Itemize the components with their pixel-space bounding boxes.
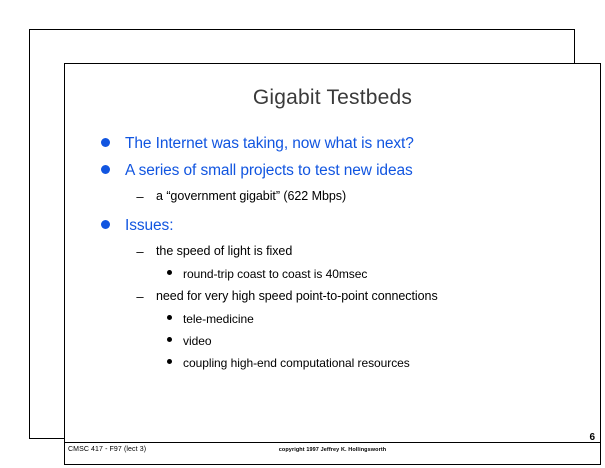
list-item-label: coupling high-end computational resource… — [183, 353, 600, 373]
list-item[interactable]: The Internet was taking, now what is nex… — [65, 132, 600, 157]
small-round-bullet-icon — [167, 270, 172, 275]
list-item[interactable]: coupling high-end computational resource… — [65, 353, 600, 374]
dash-bullet-icon: – — [133, 241, 147, 262]
round-bullet-icon — [101, 220, 110, 229]
footer-page-number: 6 — [589, 432, 595, 443]
list-item[interactable]: tele-medicine — [65, 309, 600, 330]
slide-page: Gigabit Testbeds The Internet was taking… — [0, 0, 605, 468]
slide-footer: CMSC 417 - F97 (lect 3) copyright 1997 J… — [65, 444, 600, 462]
list-item-label: a “government gigabit” (622 Mbps) — [156, 186, 600, 207]
list-item[interactable]: round-trip coast to coast is 40msec — [65, 264, 600, 285]
list-item[interactable]: – the speed of light is fixed — [65, 241, 600, 263]
list-item[interactable]: – a “government gigabit” (622 Mbps) — [65, 186, 600, 208]
list-item[interactable]: A series of small projects to test new i… — [65, 159, 600, 184]
footer-copyright-label: copyright 1997 Jeffrey K. Hollingsworth — [65, 447, 600, 453]
small-round-bullet-icon — [167, 359, 172, 364]
round-bullet-icon — [101, 165, 110, 174]
list-item-label: round-trip coast to coast is 40msec — [183, 264, 600, 284]
small-round-bullet-icon — [167, 337, 172, 342]
list-item-label: tele-medicine — [183, 309, 600, 329]
list-item[interactable]: – need for very high speed point-to-poin… — [65, 286, 600, 308]
round-bullet-icon — [101, 138, 110, 147]
dash-bullet-icon: – — [133, 186, 147, 207]
list-item-label: The Internet was taking, now what is nex… — [125, 132, 600, 156]
list-item[interactable]: video — [65, 331, 600, 352]
slide-inner-frame: Gigabit Testbeds The Internet was taking… — [64, 63, 601, 465]
page-title: Gigabit Testbeds — [65, 86, 600, 110]
list-item-label: the speed of light is fixed — [156, 241, 600, 262]
footer-divider — [65, 442, 600, 443]
dash-bullet-icon: – — [133, 286, 147, 307]
list-item-label: need for very high speed point-to-point … — [156, 286, 600, 307]
small-round-bullet-icon — [167, 315, 172, 320]
bullet-list: The Internet was taking, now what is nex… — [65, 132, 600, 375]
list-item-label: video — [183, 331, 600, 351]
list-item-label: A series of small projects to test new i… — [125, 159, 600, 183]
list-item[interactable]: Issues: — [65, 214, 600, 239]
list-item-label: Issues: — [125, 214, 600, 238]
slide-outer-frame: Gigabit Testbeds The Internet was taking… — [29, 29, 575, 439]
